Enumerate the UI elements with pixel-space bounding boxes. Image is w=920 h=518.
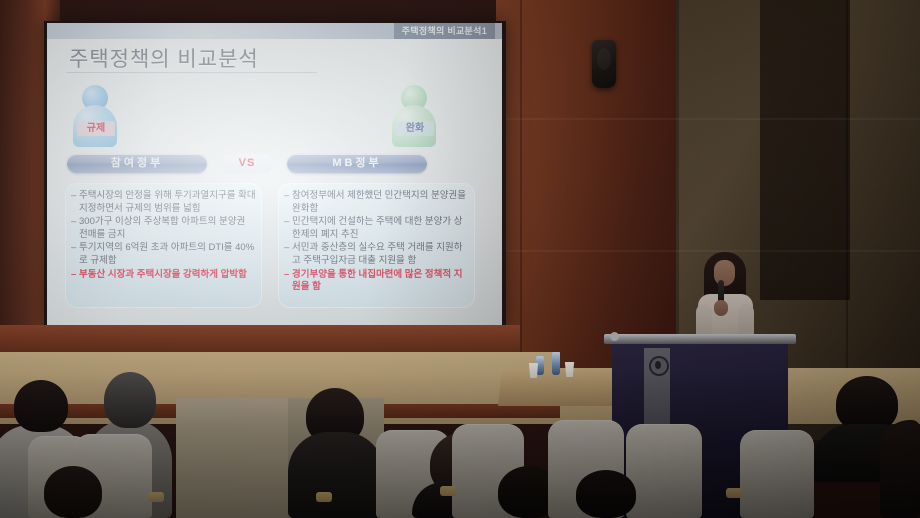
right-government-pill: MB정부 bbox=[287, 154, 427, 173]
right-figure-badge: 완화 bbox=[396, 121, 434, 136]
bullet-dash: – bbox=[284, 216, 292, 241]
slide-header-tab: 주택정책의 비교분석1 bbox=[394, 23, 495, 39]
podium-top-surface bbox=[604, 334, 796, 344]
left-content-box: –주택시장의 안정을 위해 투기과열지구를 확대 지정하면서 규제의 범위를 넓… bbox=[65, 183, 262, 308]
audience-head bbox=[44, 466, 102, 518]
right-content-box: –참여정부에서 제한했던 민간택지의 분양권을 완화함 –민간택지에 건설하는 … bbox=[278, 183, 475, 308]
bullet-item: –참여정부에서 제한했던 민간택지의 분양권을 완화함 bbox=[284, 190, 469, 215]
person-icon-left: 규제 bbox=[73, 85, 117, 147]
wall-seam bbox=[846, 0, 848, 380]
wall-speaker-icon bbox=[592, 40, 616, 88]
bullet-dash: – bbox=[71, 216, 79, 241]
bullet-item-highlight: –부동산 시장과 주택시장을 강력하게 압박함 bbox=[71, 269, 256, 282]
bullet-text: 민간택지에 건설하는 주택에 대한 분양가 상한제의 폐지 추진 bbox=[292, 216, 469, 241]
center-aisle bbox=[176, 398, 302, 518]
seat bbox=[740, 430, 814, 518]
seat bbox=[626, 424, 702, 518]
bullet-text: 주택시장의 안정을 위해 투기과열지구를 확대 지정하면서 규제의 범위를 넓힘 bbox=[79, 190, 256, 215]
bullet-item: –민간택지에 건설하는 주택에 대한 분양가 상한제의 폐지 추진 bbox=[284, 216, 469, 241]
bullet-dash: – bbox=[284, 190, 292, 215]
title-underline bbox=[67, 72, 317, 73]
bullet-item-highlight: –경기부양을 통한 내집마련에 많은 정책적 지원을 함 bbox=[284, 269, 469, 294]
bullet-text: 300가구 이상의 주상복합 아파트의 분양권 전매를 금지 bbox=[79, 216, 256, 241]
bullet-text: 참여정부에서 제한했던 민간택지의 분양권을 완화함 bbox=[292, 190, 469, 215]
auditorium-scene: 주택정책의 비교분석1 주택정책의 비교분석 규제 완화 참여정부 VS MB정… bbox=[0, 0, 920, 518]
stage-side-table bbox=[498, 368, 622, 406]
bullet-text: 투기지역의 6억원 초과 아파트의 DTI를 40%로 규제함 bbox=[79, 242, 256, 267]
left-government-pill: 참여정부 bbox=[67, 154, 207, 173]
left-figure-badge: 규제 bbox=[77, 121, 115, 136]
bullet-dash: – bbox=[284, 242, 292, 267]
audience-head bbox=[104, 372, 156, 428]
wall-seam bbox=[520, 0, 522, 400]
projection-screen: 주택정책의 비교분석1 주택정책의 비교분석 규제 완화 참여정부 VS MB정… bbox=[47, 23, 502, 326]
audience-head bbox=[576, 470, 636, 518]
person-icon-right: 완화 bbox=[392, 85, 436, 147]
podium-knob bbox=[610, 332, 619, 341]
bullet-item: –서민과 중산층의 실수요 주택 거래를 지원하고 주택구입자금 대출 지원을 … bbox=[284, 242, 469, 267]
wall-trim-line bbox=[496, 118, 920, 120]
vs-badge: VS bbox=[219, 154, 275, 173]
bullet-text: 부동산 시장과 주택시장을 강력하게 압박함 bbox=[79, 269, 256, 282]
bullet-item: –주택시장의 안정을 위해 투기과열지구를 확대 지정하면서 규제의 범위를 넓… bbox=[71, 190, 256, 215]
bullet-item: –투기지역의 6억원 초과 아파트의 DTI를 40%로 규제함 bbox=[71, 242, 256, 267]
bullet-dash: – bbox=[284, 269, 292, 294]
seat-armrest bbox=[316, 492, 332, 502]
audience-head bbox=[880, 420, 920, 518]
presenter-hand bbox=[714, 300, 728, 316]
right-wall-shadow bbox=[760, 0, 850, 300]
bullet-text: 경기부양을 통한 내집마련에 많은 정책적 지원을 함 bbox=[292, 269, 469, 294]
seat-armrest bbox=[440, 486, 456, 496]
bullet-dash: – bbox=[71, 190, 79, 215]
audience-member bbox=[288, 432, 384, 518]
bullet-text: 서민과 중산층의 실수요 주택 거래를 지원하고 주택구입자금 대출 지원을 함 bbox=[292, 242, 469, 267]
slide-title: 주택정책의 비교분석 bbox=[69, 43, 259, 73]
bullet-dash: – bbox=[71, 242, 79, 267]
water-bottle bbox=[552, 352, 560, 375]
audience-head bbox=[14, 380, 68, 432]
seat-armrest bbox=[726, 488, 742, 498]
bullet-item: –300가구 이상의 주상복합 아파트의 분양권 전매를 금지 bbox=[71, 216, 256, 241]
bullet-dash: – bbox=[71, 269, 79, 282]
seat-armrest bbox=[148, 492, 164, 502]
podium-emblem-icon bbox=[649, 356, 669, 376]
